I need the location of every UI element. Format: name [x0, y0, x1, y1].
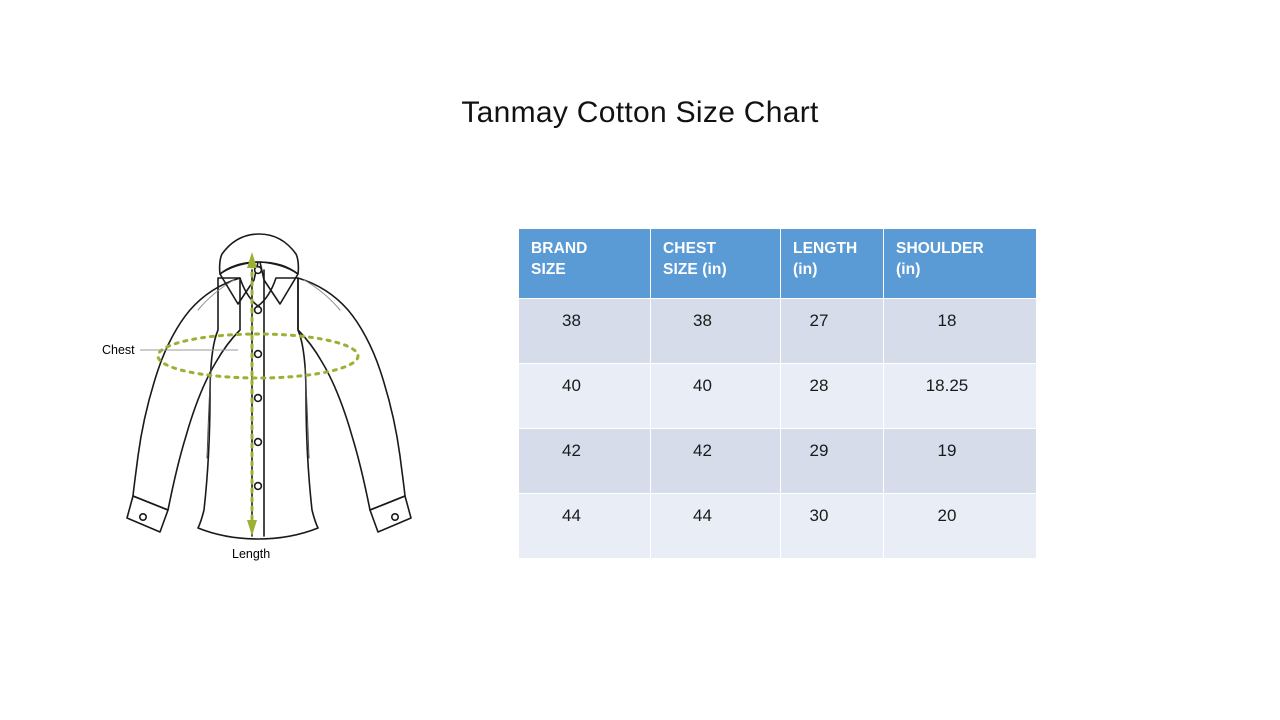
cell-brand-size: 44 — [519, 494, 650, 558]
shirt-body — [198, 278, 318, 539]
cell-length: 29 — [781, 429, 883, 493]
column-header-line1: SHOULDER — [896, 240, 984, 257]
column-header-chest-size: CHEST SIZE (in) — [651, 229, 780, 298]
left-shoulder-seam — [198, 280, 234, 310]
cell-chest-size: 40 — [651, 364, 780, 428]
shirt-button — [255, 439, 262, 446]
cell-length: 30 — [781, 494, 883, 558]
length-label: Length — [232, 547, 270, 561]
column-header-line1: CHEST — [663, 240, 716, 257]
cell-chest-size: 44 — [651, 494, 780, 558]
chest-label: Chest — [102, 343, 135, 357]
size-chart-table: BRAND SIZE CHEST SIZE (in) LENGTH (in) S… — [518, 228, 1037, 559]
right-sleeve — [298, 278, 405, 510]
table-header-row: BRAND SIZE CHEST SIZE (in) LENGTH (in) S… — [519, 229, 1036, 298]
shirt-button — [255, 395, 262, 402]
right-cuff-button — [392, 514, 398, 520]
cell-brand-size: 40 — [519, 364, 650, 428]
column-header-line2: (in) — [793, 260, 883, 281]
cell-brand-size: 42 — [519, 429, 650, 493]
column-header-line2: SIZE — [531, 260, 650, 281]
column-header-line2: (in) — [896, 260, 1036, 281]
cell-shoulder: 19 — [884, 429, 1036, 493]
shirt-button — [255, 307, 262, 314]
table-row: 38 38 27 18 — [519, 299, 1036, 363]
left-cuff — [127, 496, 168, 532]
column-header-length: LENGTH (in) — [781, 229, 883, 298]
column-header-brand-size: BRAND SIZE — [519, 229, 650, 298]
length-arrow-top — [247, 252, 257, 268]
cell-shoulder: 20 — [884, 494, 1036, 558]
column-header-line1: BRAND — [531, 240, 587, 257]
cell-length: 27 — [781, 299, 883, 363]
right-shoulder-seam — [304, 280, 340, 310]
cell-chest-size: 42 — [651, 429, 780, 493]
page-title: Tanmay Cotton Size Chart — [0, 96, 1280, 130]
shirt-button — [255, 483, 262, 490]
cell-brand-size: 38 — [519, 299, 650, 363]
left-cuff-button — [140, 514, 146, 520]
cell-chest-size: 38 — [651, 299, 780, 363]
column-header-shoulder: SHOULDER (in) — [884, 229, 1036, 298]
shirt-button — [255, 351, 262, 358]
column-header-line1: LENGTH — [793, 240, 857, 257]
table-row: 42 42 29 19 — [519, 429, 1036, 493]
cell-length: 28 — [781, 364, 883, 428]
left-sleeve — [133, 278, 240, 510]
cell-shoulder: 18.25 — [884, 364, 1036, 428]
shirt-outline-group — [127, 234, 411, 539]
length-arrow-bottom — [247, 520, 257, 536]
column-header-line2: SIZE (in) — [663, 260, 780, 281]
shirt-illustration: Chest Length — [92, 218, 432, 568]
table-row: 40 40 28 18.25 — [519, 364, 1036, 428]
table-row: 44 44 30 20 — [519, 494, 1036, 558]
cell-shoulder: 18 — [884, 299, 1036, 363]
right-cuff — [370, 496, 411, 532]
